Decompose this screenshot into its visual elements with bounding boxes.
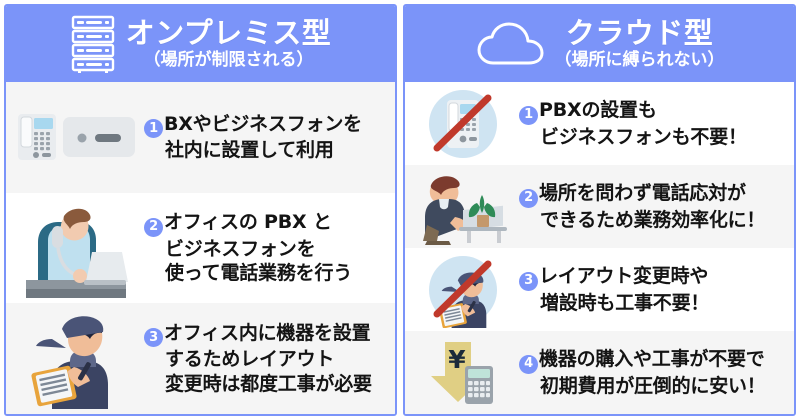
list-item-text: 3オフィス内に機器を設置 するためレイアウト 変更時は都度工事が必要 xyxy=(144,321,387,397)
engineer-crossed-out-icon xyxy=(411,252,515,327)
person-at-laptop-icon xyxy=(411,169,515,244)
panel-subtitle: （場所が制限される） xyxy=(143,52,313,69)
item-line: オフィスの PBX と xyxy=(164,211,332,233)
item-line: レイアウト変更時や xyxy=(539,265,708,287)
item-line: 増設時も工事不要！ xyxy=(519,291,709,316)
list-item-text: 3レイアウト変更時や 増設時も工事不要！ xyxy=(519,264,786,316)
list-item: 3レイアウト変更時や 増設時も工事不要！ xyxy=(405,248,794,331)
item-line: 機器の購入や工事が不要で xyxy=(539,348,765,370)
item-number: 1 xyxy=(144,119,163,138)
engineer-with-clipboard-icon xyxy=(12,307,140,410)
item-line: できるため業務効率化に！ xyxy=(519,208,765,233)
cloud-icon xyxy=(475,21,545,67)
item-line: オフィス内に機器を設置 xyxy=(164,322,370,344)
panel-header-cloud: クラウド型 （場所に縛られない） xyxy=(405,6,794,82)
item-number: 2 xyxy=(519,189,538,208)
item-number: 1 xyxy=(519,106,538,125)
list-item: 1PBXの設置も ビジネスフォンも不要！ xyxy=(405,82,794,165)
list-item-text: 1PBXの設置も ビジネスフォンも不要！ xyxy=(519,98,786,150)
list-item: 1BXやビジネスフォンを 社内に設置して利用 xyxy=(6,82,395,193)
server-rack-icon xyxy=(70,15,116,73)
yen-down-arrow-calculator-icon: ¥ xyxy=(411,335,515,410)
panel-header-on-premise: オンプレミス型 （場所が制限される） xyxy=(6,6,395,82)
list-item: 3オフィス内に機器を設置 するためレイアウト 変更時は都度工事が必要 xyxy=(6,303,395,414)
list-item-text: 1BXやビジネスフォンを 社内に設置して利用 xyxy=(144,112,387,164)
item-number: 3 xyxy=(144,328,163,347)
panel-subtitle: （場所に縛られない） xyxy=(555,52,725,69)
item-line: 社内に設置して利用 xyxy=(144,138,362,163)
panel-on-premise: オンプレミス型 （場所が制限される） xyxy=(4,4,397,416)
item-line: 場所を問わず電話応対が xyxy=(539,182,746,204)
desk-phone-and-pbx-icon xyxy=(12,86,140,189)
item-line: 使って電話業務を行う xyxy=(144,261,352,286)
item-line: PBXの設置も xyxy=(539,99,657,121)
item-list-cloud: 1PBXの設置も ビジネスフォンも不要！ xyxy=(405,82,794,414)
item-line: ビジネスフォンを xyxy=(144,237,352,262)
list-item: 2オフィスの PBX と ビジネスフォンを 使って電話業務を行う xyxy=(6,193,395,304)
panel-cloud: クラウド型 （場所に縛られない） xyxy=(403,4,796,416)
item-line: ビジネスフォンも不要！ xyxy=(519,125,747,150)
panel-title: オンプレミス型 xyxy=(126,19,332,48)
list-item: ¥ 4機器の購入や工事が不要で xyxy=(405,331,794,414)
item-list-on-premise: 1BXやビジネスフォンを 社内に設置して利用 xyxy=(6,82,395,414)
list-item: 2場所を問わず電話応対が できるため業務効率化に！ xyxy=(405,165,794,248)
item-number: 4 xyxy=(519,355,538,374)
item-line: するためレイアウト xyxy=(144,347,372,372)
person-on-office-phone-icon xyxy=(12,197,140,300)
item-line: 変更時は都度工事が必要 xyxy=(144,372,372,397)
list-item-text: 2オフィスの PBX と ビジネスフォンを 使って電話業務を行う xyxy=(144,210,387,286)
item-number: 3 xyxy=(519,272,538,291)
item-line: BXやビジネスフォンを xyxy=(164,113,362,135)
list-item-text: 4機器の購入や工事が不要で 初期費用が圧倒的に安い！ xyxy=(519,347,786,399)
panel-title: クラウド型 xyxy=(566,19,714,48)
item-line: 初期費用が圧倒的に安い！ xyxy=(519,374,766,399)
desk-phone-crossed-out-icon xyxy=(411,86,515,161)
list-item-text: 2場所を問わず電話応対が できるため業務効率化に！ xyxy=(519,181,786,233)
comparison-infographic: オンプレミス型 （場所が制限される） xyxy=(0,0,800,420)
item-number: 2 xyxy=(144,218,163,237)
svg-text:¥: ¥ xyxy=(448,345,466,374)
